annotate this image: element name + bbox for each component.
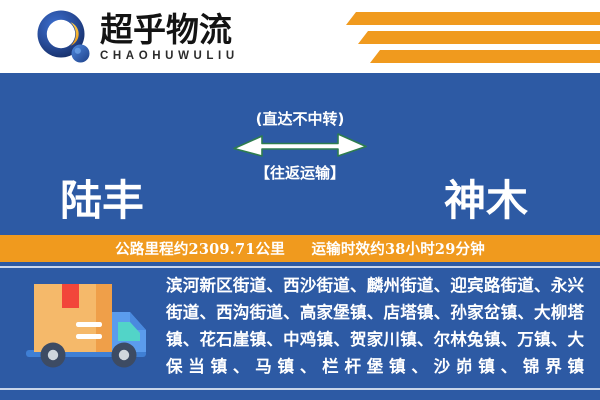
delivery-truck-icon	[22, 278, 154, 373]
direct-service-tag: (直达不中转)	[205, 109, 395, 129]
orange-speed-stripes-icon	[345, 12, 600, 64]
distance-duration-bar: 公路里程约2309.71公里 运输时效约38小时29分钟	[0, 235, 600, 262]
route-middle-group: (直达不中转) 【往返运输】	[205, 109, 395, 183]
stripe-top	[346, 12, 600, 25]
brand-name-cn: 超乎物流	[100, 12, 239, 48]
transit-duration-label: 运输时效约38小时29分钟	[311, 241, 484, 258]
stripe-middle	[358, 31, 600, 44]
bidirectional-arrow-icon	[232, 131, 368, 159]
brand-text-block: 超乎物流 CHAOHUWULIU	[100, 12, 239, 64]
stripe-bottom	[370, 50, 600, 63]
coverage-areas-text: 滨河新区街道、西沙街道、麟州街道、迎宾路街道、永兴街道、西沟街道、高家堡镇、店塔…	[166, 272, 584, 380]
circle-crescent-logo-icon	[36, 9, 94, 67]
brand-name-en: CHAOHUWULIU	[100, 49, 239, 64]
brand-logo-group: 超乎物流 CHAOHUWULIU	[36, 9, 239, 67]
route-section: 陆丰 (直达不中转) 【往返运输】 神木	[0, 73, 600, 235]
origin-city-label: 陆丰	[60, 180, 144, 222]
logistics-route-banner: 超乎物流 CHAOHUWULIU 陆丰 (直达不中转) 【往返运输】 神木	[0, 0, 600, 400]
road-distance-label: 公路里程约2309.71公里	[115, 241, 285, 258]
roundtrip-service-tag: 【往返运输】	[205, 163, 395, 183]
destination-city-label: 神木	[444, 180, 528, 222]
infobar-text-group: 公路里程约2309.71公里 运输时效约38小时29分钟	[115, 238, 485, 259]
coverage-bottom-divider	[0, 388, 600, 390]
banner-header: 超乎物流 CHAOHUWULIU	[0, 0, 600, 73]
coverage-top-divider	[0, 266, 600, 268]
